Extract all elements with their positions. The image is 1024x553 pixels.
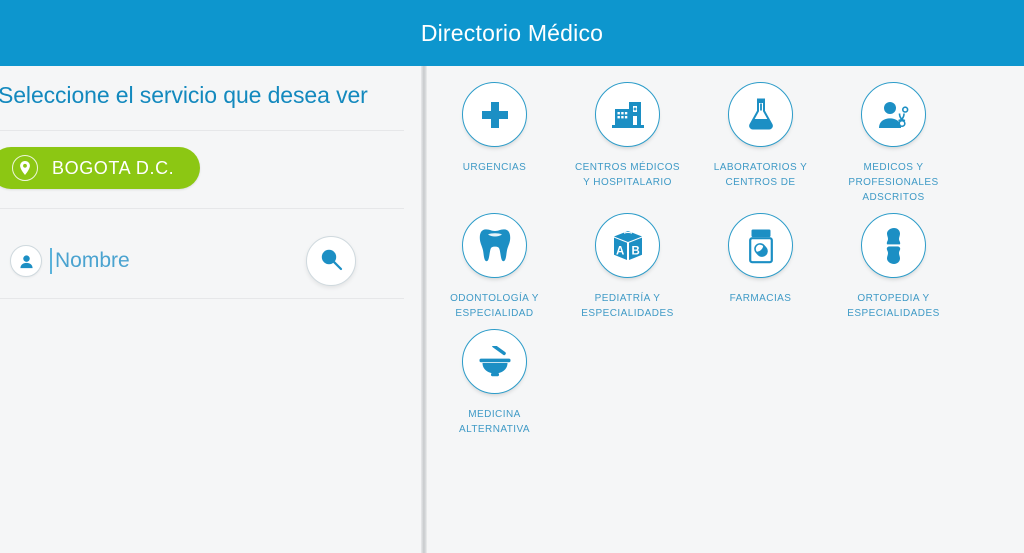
search-input[interactable]: Nombre [50, 241, 300, 281]
service-label: LABORATORIOS Y CENTROS DE [706, 160, 816, 190]
lab-flask-icon [728, 82, 793, 147]
service-label: PEDIATRÍA Y ESPECIALIDADES [573, 291, 683, 321]
search-button[interactable] [306, 236, 356, 286]
pill-bottle-icon [728, 213, 793, 278]
sidebar-divider-middle [0, 208, 404, 209]
service-label: ODONTOLOGÍA Y ESPECIALIDAD [440, 291, 550, 321]
service-label: MEDICOS Y PROFESIONALES ADSCRITOS [839, 160, 949, 205]
service-item-odontologia[interactable]: ODONTOLOGÍA Y ESPECIALIDAD [428, 205, 561, 321]
app-header: Directorio Médico [0, 0, 1024, 66]
svg-text:B: B [631, 245, 639, 257]
doctor-stethoscope-icon [861, 82, 926, 147]
medical-cross-icon [462, 82, 527, 147]
service-label: CENTROS MÉDICOS Y HOSPITALARIO [573, 160, 683, 190]
mortar-pestle-icon [462, 329, 527, 394]
sidebar-divider-top [0, 130, 404, 131]
location-filter-button[interactable]: BOGOTA D.C. [0, 147, 200, 189]
name-search-row: Nombre [0, 230, 404, 292]
service-label: URGENCIAS [440, 160, 550, 175]
service-item-farmacias[interactable]: FARMACIAS [694, 205, 827, 321]
panel-divider [421, 66, 428, 553]
service-label: MEDICINA ALTERNATIVA [440, 407, 550, 437]
search-icon [317, 245, 345, 278]
service-item-pediatria[interactable]: A B PEDIATRÍA Y ESPECIALIDADES [561, 205, 694, 321]
service-label: FARMACIAS [706, 291, 816, 306]
services-grid: URGENCIAS [428, 74, 1024, 437]
service-item-medicos[interactable]: MEDICOS Y PROFESIONALES ADSCRITOS [827, 74, 960, 205]
service-item-urgencias[interactable]: URGENCIAS [428, 74, 561, 205]
toy-block-icon: A B [595, 213, 660, 278]
page-title: Directorio Médico [421, 22, 603, 45]
app-root: Directorio Médico Seleccione el servicio… [0, 0, 1024, 553]
service-item-ortopedia[interactable]: ORTOPEDIA Y ESPECIALIDADES [827, 205, 960, 321]
person-icon [10, 245, 42, 277]
map-pin-icon [12, 155, 38, 181]
sidebar-panel: Seleccione el servicio que desea ver BOG… [0, 66, 421, 553]
hospital-building-icon [595, 82, 660, 147]
services-panel: URGENCIAS [428, 66, 1024, 553]
service-item-laboratorios[interactable]: LABORATORIOS Y CENTROS DE [694, 74, 827, 205]
tooth-icon [462, 213, 527, 278]
location-label: BOGOTA D.C. [52, 158, 174, 179]
sidebar-divider-bottom [0, 298, 404, 299]
sidebar-heading: Seleccione el servicio que desea ver [0, 82, 418, 109]
svg-text:A: A [616, 245, 624, 257]
service-item-medicina-alternativa[interactable]: MEDICINA ALTERNATIVA [428, 321, 561, 437]
service-label: ORTOPEDIA Y ESPECIALIDADES [839, 291, 949, 321]
bone-joint-icon [861, 213, 926, 278]
text-caret [50, 248, 52, 274]
search-input-placeholder: Nombre [55, 249, 130, 273]
service-item-centros-medicos[interactable]: CENTROS MÉDICOS Y HOSPITALARIO [561, 74, 694, 205]
